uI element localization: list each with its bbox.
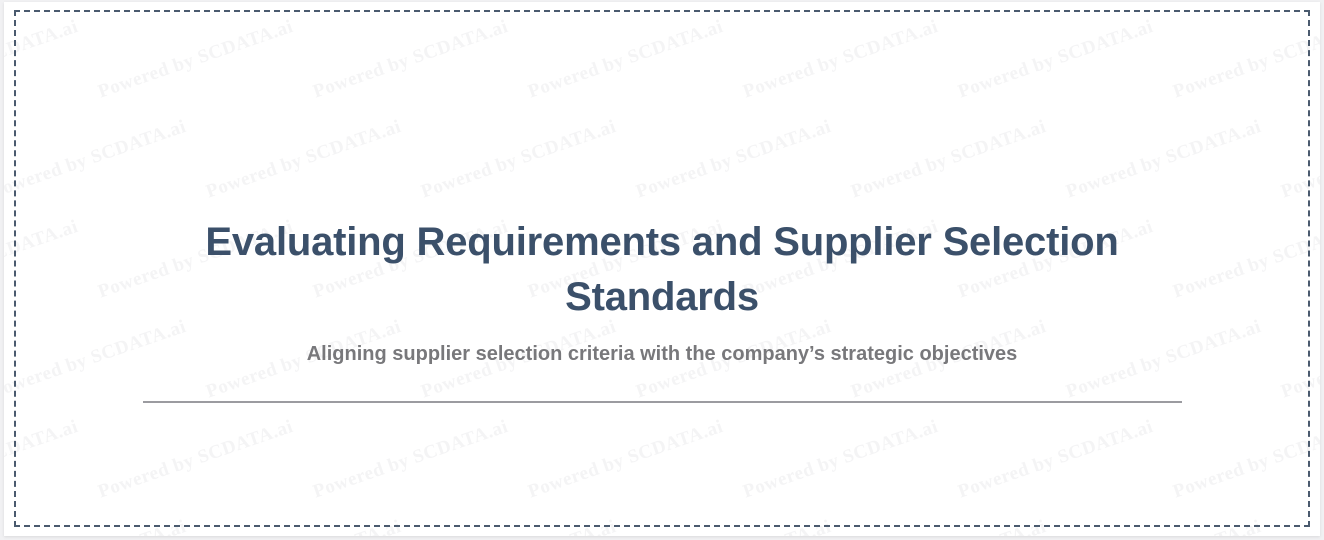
slide-dashed-border	[14, 10, 1310, 527]
slide-card: Powered by SCDATA.aiPowered by SCDATA.ai…	[4, 2, 1320, 536]
